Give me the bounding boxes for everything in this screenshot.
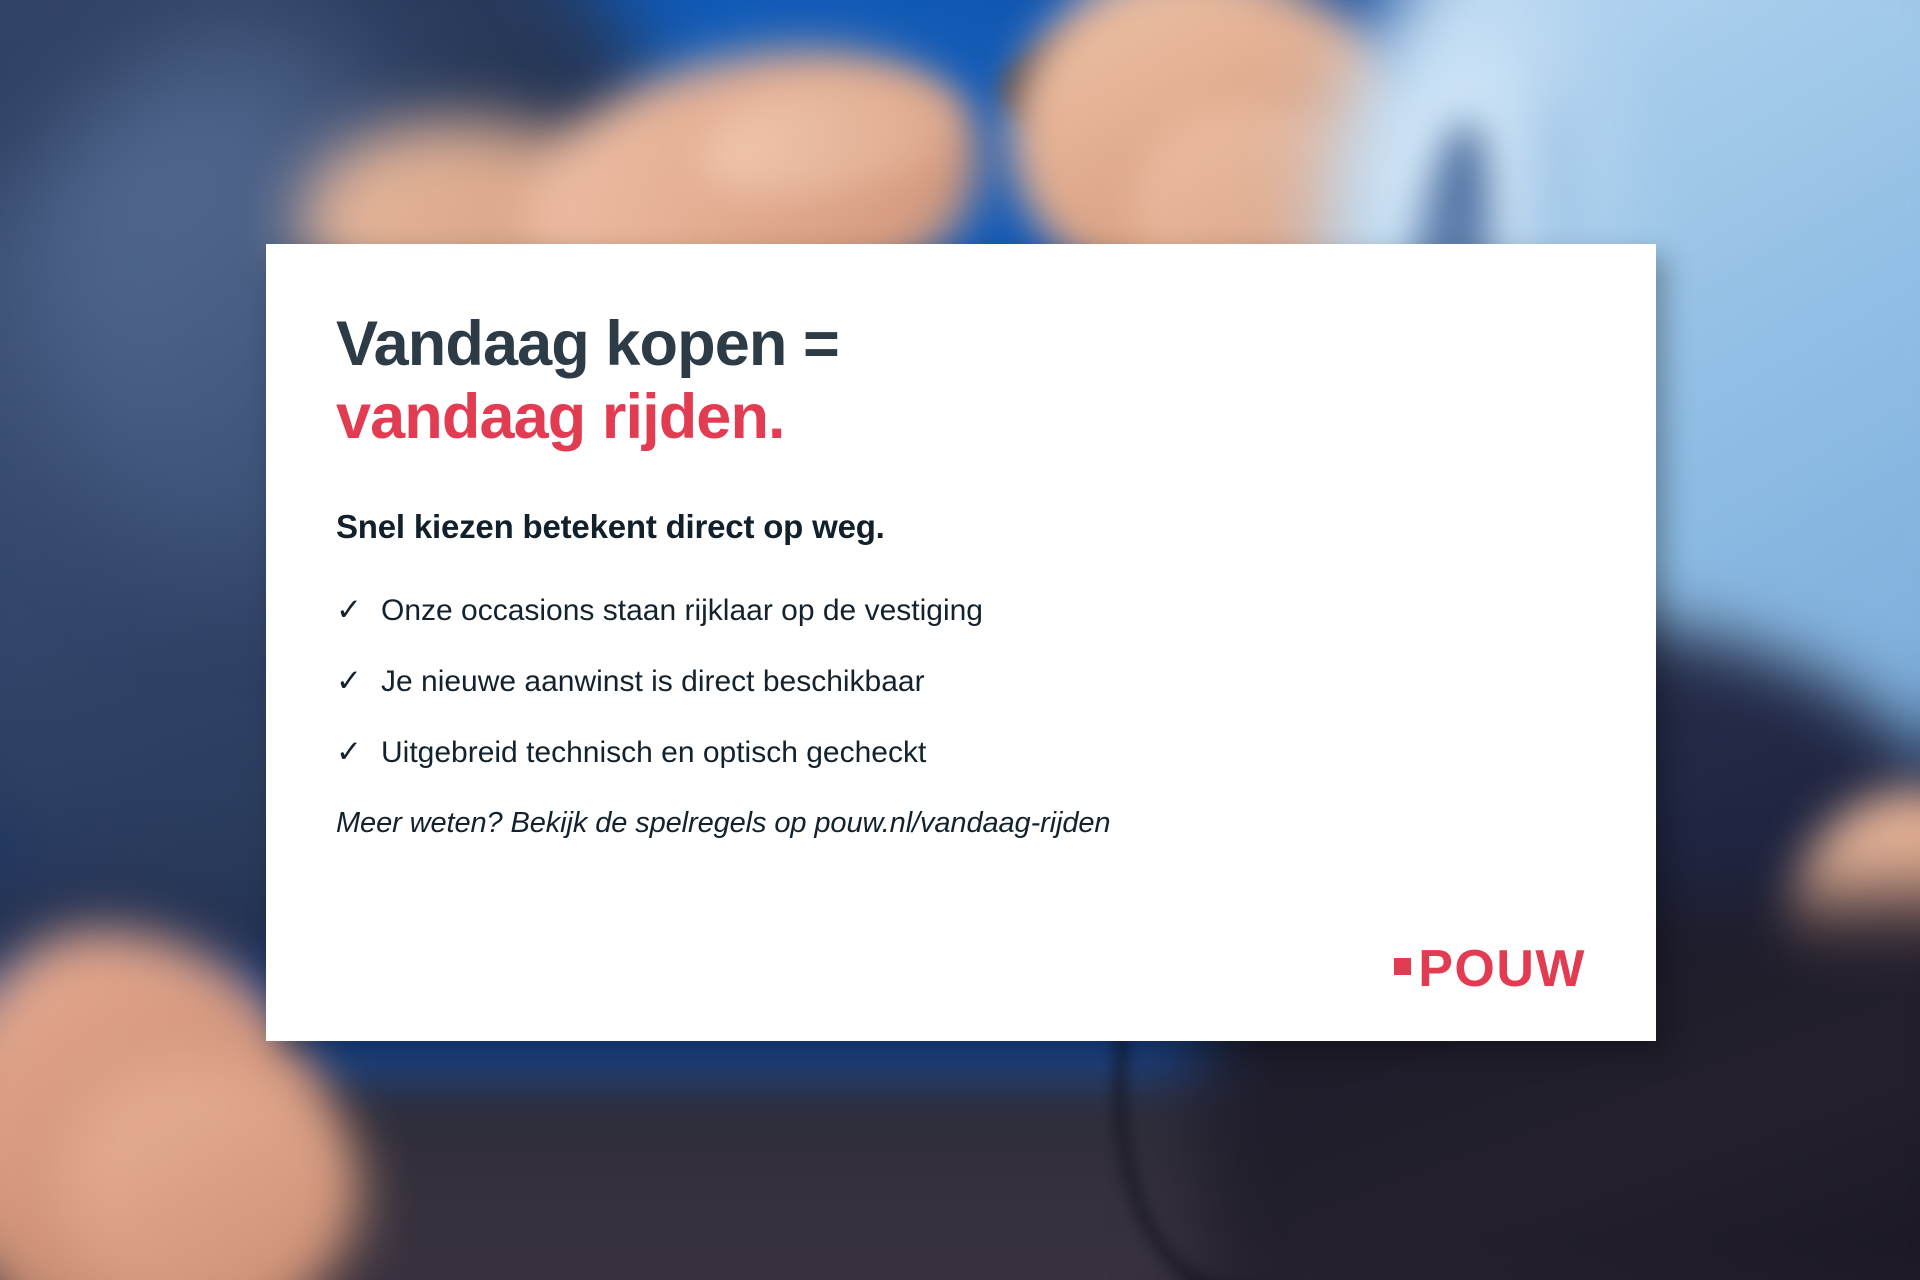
check-icon: ✓ <box>336 665 362 696</box>
list-item-label: Onze occasions staan rijklaar op de vest… <box>381 596 983 626</box>
footnote-text: Meer weten? Bekijk de spelregels op pouw… <box>336 807 1586 840</box>
list-item: ✓ Uitgebreid technisch en optisch gechec… <box>336 736 1586 768</box>
list-item-label: Uitgebreid technisch en optisch gecheckt <box>381 738 926 768</box>
advertisement-banner: Vandaag kopen = vandaag rijden. Snel kie… <box>0 0 1920 1280</box>
list-item: ✓ Onze occasions staan rijklaar op de ve… <box>336 594 1586 626</box>
pouw-wordmark: POUW <box>1418 943 1586 995</box>
list-item: ✓ Je nieuwe aanwinst is direct beschikba… <box>336 665 1586 697</box>
subheading: Snel kiezen betekent direct op weg. <box>336 508 1586 546</box>
benefits-list: ✓ Onze occasions staan rijklaar op de ve… <box>336 594 1586 768</box>
headline-line-1: Vandaag kopen = <box>336 309 839 379</box>
list-item-label: Je nieuwe aanwinst is direct beschikbaar <box>381 667 925 697</box>
promo-card: Vandaag kopen = vandaag rijden. Snel kie… <box>266 244 1656 1041</box>
pouw-logo[interactable]: POUW <box>1394 943 1586 995</box>
brand-logo[interactable]: POUW <box>1394 943 1586 995</box>
pouw-logo-dot-icon <box>1394 958 1411 975</box>
page-title: Vandaag kopen = vandaag rijden. <box>336 308 1586 454</box>
check-icon: ✓ <box>336 594 362 625</box>
headline-line-2: vandaag rijden. <box>336 381 1586 454</box>
check-icon: ✓ <box>336 736 362 767</box>
